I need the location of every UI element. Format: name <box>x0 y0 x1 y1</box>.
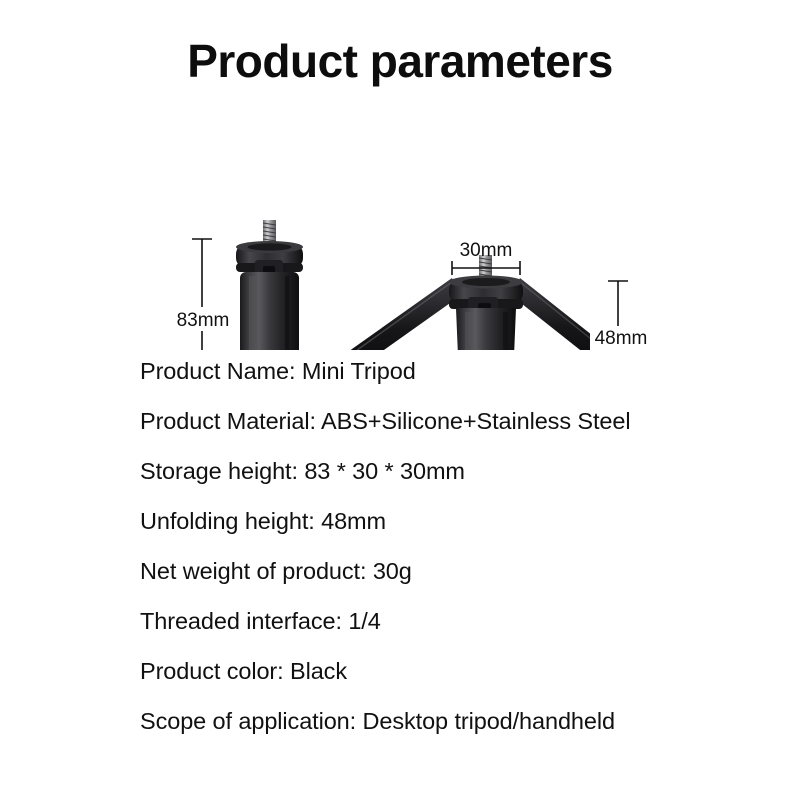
specification-list: Product Name: Mini Tripod Product Materi… <box>140 360 760 760</box>
dimension-83mm-label: 83mm <box>177 310 230 331</box>
folded-screw-thread <box>263 220 276 244</box>
spec-row-threaded-interface: Threaded interface: 1/4 <box>140 610 760 634</box>
spec-row-storage-height: Storage height: 83 * 30 * 30mm <box>140 460 760 484</box>
spec-row-product-name: Product Name: Mini Tripod <box>140 360 760 384</box>
unfolded-tripod-illustration: 30mm 48mm <box>334 240 653 350</box>
spec-row-net-weight: Net weight of product: 30g <box>140 560 760 584</box>
tripod-leg-left <box>334 278 461 350</box>
dimension-30mm-unfolded-label: 30mm <box>460 240 513 261</box>
spec-row-scope-of-application: Scope of application: Desktop tripod/han… <box>140 710 760 734</box>
product-diagrams: 83mm 30mm <box>0 100 800 350</box>
unfolded-body-column <box>456 308 516 350</box>
dimension-48mm-label: 48mm <box>595 328 648 349</box>
folded-top-cap <box>236 241 303 277</box>
folded-tripod-illustration: 83mm 30mm <box>172 220 305 350</box>
spec-row-product-color: Product color: Black <box>140 660 760 684</box>
spec-row-unfolding-height: Unfolding height: 48mm <box>140 510 760 534</box>
page-title: Product parameters <box>0 34 800 88</box>
folded-body-column <box>240 272 299 350</box>
spec-row-product-material: Product Material: ABS+Silicone+Stainless… <box>140 410 760 434</box>
dimension-83mm <box>192 239 212 350</box>
